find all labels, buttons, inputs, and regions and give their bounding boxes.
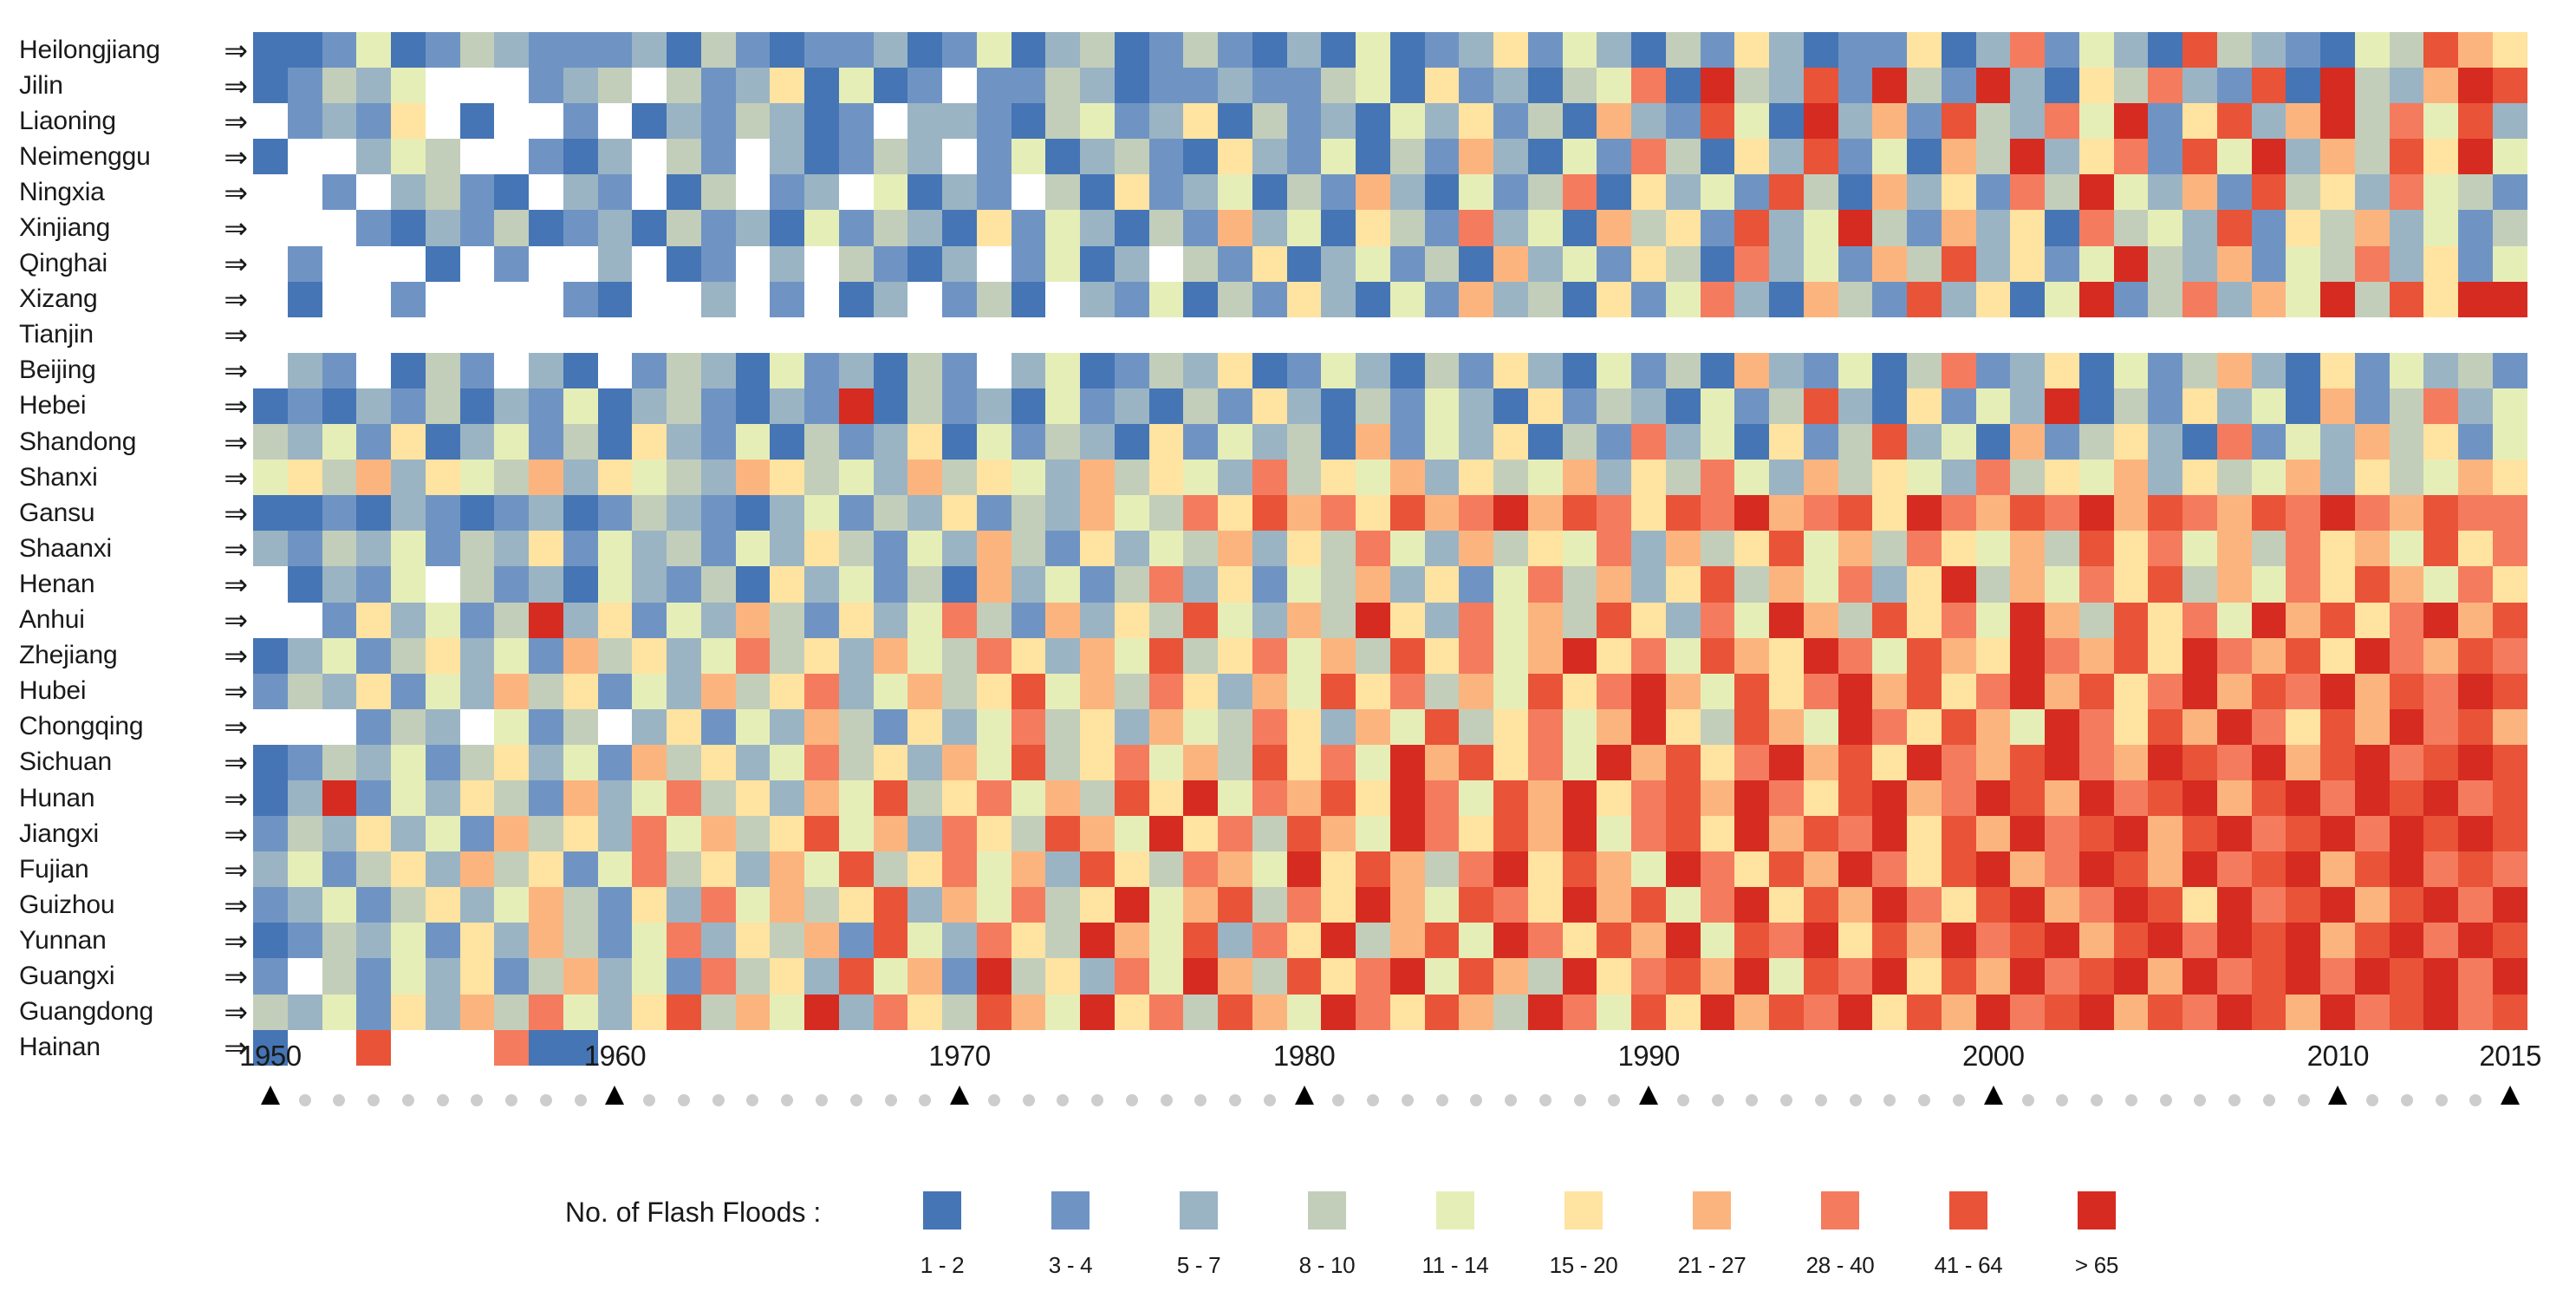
heatmap-cell xyxy=(1493,851,1528,887)
heatmap-cell xyxy=(322,709,357,745)
heatmap-cell xyxy=(1493,887,1528,923)
heatmap-cell xyxy=(2010,995,2045,1030)
heatmap-cell xyxy=(1287,531,1322,566)
heatmap-cell xyxy=(942,566,977,602)
heatmap-cell xyxy=(2148,923,2182,958)
heatmap-cell xyxy=(2182,282,2217,317)
heatmap-cell xyxy=(2320,317,2355,353)
heatmap-cell xyxy=(1769,531,1804,566)
heatmap-cell xyxy=(701,282,736,317)
x-axis-year-dot xyxy=(2469,1094,2482,1106)
heatmap-row xyxy=(253,353,2527,388)
heatmap-cell xyxy=(2458,566,2493,602)
heatmap-cell xyxy=(1459,638,1493,674)
province-label-column: Heilongjiang⇒Jilin⇒Liaoning⇒Neimenggu⇒Ni… xyxy=(0,32,253,1066)
heatmap-cell xyxy=(1942,210,1976,245)
heatmap-cell xyxy=(322,246,357,282)
heatmap-cell xyxy=(667,603,701,638)
heatmap-cell xyxy=(1252,958,1287,994)
heatmap-cell xyxy=(2114,388,2149,424)
heatmap-cell xyxy=(426,103,460,139)
heatmap-cell xyxy=(667,32,701,68)
heatmap-cell xyxy=(1631,923,1666,958)
heatmap-cell xyxy=(839,103,874,139)
heatmap-cell xyxy=(2286,674,2320,709)
heatmap-cell xyxy=(2217,816,2252,851)
heatmap-cell xyxy=(1493,958,1528,994)
heatmap-cell xyxy=(1666,851,1701,887)
heatmap-cell xyxy=(2252,674,2287,709)
province-name: Zhejiang xyxy=(19,642,117,669)
heatmap-cell xyxy=(2458,674,2493,709)
heatmap-cell xyxy=(391,780,426,816)
heatmap-cell xyxy=(2079,353,2114,388)
province-label-row: Ningxia⇒ xyxy=(0,174,253,210)
heatmap-cell xyxy=(1321,103,1356,139)
x-axis-year-dot xyxy=(1091,1094,1103,1106)
heatmap-cell xyxy=(253,103,288,139)
heatmap-cell xyxy=(874,674,908,709)
heatmap-cell xyxy=(322,32,357,68)
heatmap-cell xyxy=(632,851,667,887)
heatmap-cell xyxy=(770,424,804,460)
heatmap-cell xyxy=(1666,282,1701,317)
heatmap-cell xyxy=(667,816,701,851)
heatmap-cell xyxy=(563,816,598,851)
heatmap-cell xyxy=(942,851,977,887)
heatmap-cell xyxy=(2217,424,2252,460)
heatmap-cell xyxy=(1080,887,1115,923)
heatmap-cell xyxy=(701,174,736,210)
heatmap-cell xyxy=(1321,958,1356,994)
heatmap-cell xyxy=(2182,851,2217,887)
heatmap-cell xyxy=(2320,816,2355,851)
heatmap-cell xyxy=(2010,887,2045,923)
heatmap-cell xyxy=(1425,780,1460,816)
heatmap-cell xyxy=(1701,851,1735,887)
heatmap-cell xyxy=(2252,531,2287,566)
heatmap-cell xyxy=(2182,745,2217,780)
heatmap-cell xyxy=(1493,424,1528,460)
heatmap-cell xyxy=(1804,174,1838,210)
double-arrow-icon: ⇒ xyxy=(224,748,248,777)
heatmap-cell xyxy=(356,210,391,245)
heatmap-cell xyxy=(1666,995,1701,1030)
heatmap-row xyxy=(253,531,2527,566)
heatmap-cell xyxy=(1115,780,1149,816)
heatmap-cell xyxy=(667,887,701,923)
heatmap-cell xyxy=(2458,638,2493,674)
heatmap-cell xyxy=(1976,388,2011,424)
heatmap-cell xyxy=(1942,103,1976,139)
heatmap-cell xyxy=(667,674,701,709)
heatmap-cell xyxy=(2423,317,2458,353)
heatmap-cell xyxy=(563,745,598,780)
heatmap-cell xyxy=(1804,923,1838,958)
heatmap-cell xyxy=(1459,282,1493,317)
heatmap-cell xyxy=(460,674,495,709)
dot-icon xyxy=(1746,1094,1758,1106)
heatmap-cell xyxy=(2045,388,2079,424)
heatmap-cell xyxy=(942,32,977,68)
legend-item: 11 - 14 xyxy=(1386,1191,1525,1278)
heatmap-cell xyxy=(460,353,495,388)
heatmap-cell xyxy=(701,603,736,638)
heatmap-row xyxy=(253,745,2527,780)
heatmap-cell xyxy=(1183,566,1218,602)
heatmap-cell xyxy=(1252,282,1287,317)
heatmap-cell xyxy=(598,531,633,566)
province-name: Sichuan xyxy=(19,749,112,775)
heatmap-cell xyxy=(2182,780,2217,816)
heatmap-cell xyxy=(1666,495,1701,531)
heatmap-cell xyxy=(804,638,839,674)
x-axis-tick-marker xyxy=(1984,1086,2003,1105)
x-axis-year-dot xyxy=(1677,1094,1689,1106)
heatmap-cell xyxy=(2493,745,2527,780)
heatmap-cell xyxy=(288,32,322,68)
heatmap-cell xyxy=(1942,388,1976,424)
heatmap-cell xyxy=(1321,851,1356,887)
heatmap-cell xyxy=(1838,745,1873,780)
province-label-row: Shandong⇒ xyxy=(0,424,253,460)
heatmap-cell xyxy=(1425,174,1460,210)
heatmap-cell xyxy=(1356,317,1390,353)
heatmap-cell xyxy=(1115,103,1149,139)
heatmap-cell xyxy=(1734,317,1769,353)
heatmap-cell xyxy=(1872,495,1907,531)
heatmap-cell xyxy=(804,282,839,317)
heatmap-cell xyxy=(736,317,771,353)
heatmap-cell xyxy=(1459,674,1493,709)
heatmap-cell xyxy=(2217,638,2252,674)
heatmap-cell xyxy=(1804,603,1838,638)
heatmap-cell xyxy=(1769,851,1804,887)
heatmap-cell xyxy=(667,424,701,460)
province-label-row: Fujian⇒ xyxy=(0,851,253,887)
heatmap-cell xyxy=(2252,282,2287,317)
heatmap-cell xyxy=(1287,317,1322,353)
heatmap-cell xyxy=(2252,709,2287,745)
heatmap-cell xyxy=(563,995,598,1030)
heatmap-cell xyxy=(1493,139,1528,174)
heatmap-cell xyxy=(1115,139,1149,174)
heatmap-cell xyxy=(2010,139,2045,174)
heatmap-cell xyxy=(1734,745,1769,780)
heatmap-cell xyxy=(1907,745,1942,780)
heatmap-cell xyxy=(1080,958,1115,994)
heatmap-cell xyxy=(1528,32,1563,68)
heatmap-cell xyxy=(1493,353,1528,388)
heatmap-cell xyxy=(1356,923,1390,958)
heatmap-cell xyxy=(1528,424,1563,460)
heatmap-cell xyxy=(1045,745,1080,780)
heatmap-cell xyxy=(632,638,667,674)
heatmap-cell xyxy=(1425,246,1460,282)
heatmap-cell xyxy=(1563,816,1597,851)
heatmap-cell xyxy=(1080,424,1115,460)
heatmap-cell xyxy=(1390,32,1425,68)
x-axis-year-dot xyxy=(1194,1094,1207,1106)
heatmap-cell xyxy=(2355,674,2390,709)
heatmap-cell xyxy=(1769,816,1804,851)
heatmap-cell xyxy=(1597,353,1631,388)
heatmap-cell xyxy=(1356,566,1390,602)
heatmap-cell xyxy=(977,745,1012,780)
heatmap-cell xyxy=(598,68,633,103)
heatmap-cell xyxy=(1149,709,1184,745)
heatmap-cell xyxy=(2355,210,2390,245)
heatmap-cell xyxy=(1390,531,1425,566)
heatmap-cell xyxy=(1907,709,1942,745)
heatmap-cell xyxy=(2079,674,2114,709)
heatmap-cell xyxy=(391,174,426,210)
heatmap-cell xyxy=(1597,745,1631,780)
heatmap-cell xyxy=(1493,995,1528,1030)
heatmap-cell xyxy=(1115,923,1149,958)
heatmap-cell xyxy=(2423,995,2458,1030)
heatmap-cell xyxy=(391,139,426,174)
heatmap-cell xyxy=(839,32,874,68)
heatmap-cell xyxy=(1218,887,1252,923)
heatmap-cell xyxy=(1597,424,1631,460)
x-axis-tick-text: 1960 xyxy=(563,1040,667,1072)
heatmap-cell xyxy=(1012,638,1046,674)
heatmap-cell xyxy=(736,709,771,745)
dot-icon xyxy=(850,1094,862,1106)
x-axis-year-dot xyxy=(2056,1094,2068,1106)
heatmap-cell xyxy=(1321,603,1356,638)
heatmap-cell xyxy=(1563,995,1597,1030)
heatmap-cell xyxy=(701,851,736,887)
heatmap-cell xyxy=(1666,709,1701,745)
heatmap-cell xyxy=(356,282,391,317)
heatmap-cell xyxy=(1252,851,1287,887)
heatmap-cell xyxy=(907,353,942,388)
heatmap-cell xyxy=(874,566,908,602)
x-axis-tick-marker xyxy=(2501,1086,2520,1105)
heatmap-cell xyxy=(2493,709,2527,745)
heatmap-cell xyxy=(2286,566,2320,602)
heatmap-cell xyxy=(494,139,529,174)
heatmap-cell xyxy=(460,995,495,1030)
legend: No. of Flash Floods : 1 - 23 - 45 - 78 -… xyxy=(0,1191,2576,1287)
x-axis-year-dot xyxy=(781,1094,793,1106)
heatmap-cell xyxy=(2182,246,2217,282)
x-axis-year-dot xyxy=(1953,1094,1965,1106)
heatmap-cell xyxy=(1976,317,2011,353)
heatmap-cell xyxy=(1976,139,2011,174)
heatmap-cell xyxy=(942,317,977,353)
heatmap-cell xyxy=(632,424,667,460)
heatmap-cell xyxy=(426,388,460,424)
heatmap-cell xyxy=(632,210,667,245)
heatmap-cell xyxy=(529,887,563,923)
heatmap-cell xyxy=(2320,424,2355,460)
heatmap-cell xyxy=(1356,495,1390,531)
heatmap-cell xyxy=(2045,210,2079,245)
double-arrow-icon: ⇒ xyxy=(224,392,248,421)
heatmap-cell xyxy=(2045,603,2079,638)
heatmap-cell xyxy=(804,958,839,994)
heatmap-cell xyxy=(494,210,529,245)
heatmap-cell xyxy=(391,709,426,745)
heatmap-cell xyxy=(2010,317,2045,353)
heatmap-cell xyxy=(356,68,391,103)
heatmap-cell xyxy=(1666,780,1701,816)
heatmap-cell xyxy=(494,531,529,566)
heatmap-cell xyxy=(1252,995,1287,1030)
heatmap-cell xyxy=(2045,995,2079,1030)
heatmap-cell xyxy=(2320,566,2355,602)
heatmap-cell xyxy=(977,210,1012,245)
heatmap-cell xyxy=(2010,174,2045,210)
heatmap-cell xyxy=(1045,317,1080,353)
heatmap-cell xyxy=(2114,745,2149,780)
dot-icon xyxy=(1367,1094,1379,1106)
province-name: Yunnan xyxy=(19,928,107,954)
heatmap-cell xyxy=(770,174,804,210)
heatmap-cell xyxy=(253,851,288,887)
heatmap-cell xyxy=(2286,495,2320,531)
heatmap-cell xyxy=(1976,780,2011,816)
heatmap-cell xyxy=(2390,282,2424,317)
heatmap-cell xyxy=(1804,958,1838,994)
heatmap-cell xyxy=(356,566,391,602)
heatmap-cell xyxy=(563,958,598,994)
heatmap-cell xyxy=(1563,603,1597,638)
heatmap-cell xyxy=(907,531,942,566)
heatmap-cell xyxy=(1701,282,1735,317)
heatmap-cell xyxy=(1045,958,1080,994)
province-name: Gansu xyxy=(19,500,94,526)
heatmap-cell xyxy=(1459,603,1493,638)
heatmap-cell xyxy=(1218,68,1252,103)
heatmap-cell xyxy=(1631,246,1666,282)
heatmap-cell xyxy=(1734,103,1769,139)
x-axis-year-dot xyxy=(1023,1094,1035,1106)
dot-icon xyxy=(2091,1094,2103,1106)
heatmap-cell xyxy=(1907,674,1942,709)
heatmap-cell xyxy=(2423,388,2458,424)
heatmap-cell xyxy=(804,317,839,353)
heatmap-cell xyxy=(2114,495,2149,531)
heatmap-cell xyxy=(1183,460,1218,495)
heatmap-cell xyxy=(529,103,563,139)
heatmap-cell xyxy=(2423,174,2458,210)
heatmap-cell xyxy=(2252,460,2287,495)
heatmap-cell xyxy=(1838,103,1873,139)
heatmap-cell xyxy=(1252,317,1287,353)
x-axis-tick-label: 1990 xyxy=(1597,1040,1701,1072)
heatmap-cell xyxy=(1666,745,1701,780)
heatmap-cell xyxy=(1252,388,1287,424)
heatmap-cell xyxy=(356,139,391,174)
double-arrow-icon: ⇒ xyxy=(224,962,248,990)
heatmap-cell xyxy=(322,282,357,317)
heatmap-cell xyxy=(1459,32,1493,68)
heatmap-cell xyxy=(1115,995,1149,1030)
heatmap-cell xyxy=(2114,709,2149,745)
heatmap-cell xyxy=(2182,460,2217,495)
heatmap-cell xyxy=(1666,887,1701,923)
province-label-row: Tianjin⇒ xyxy=(0,317,253,353)
heatmap-cell xyxy=(1734,424,1769,460)
heatmap-cell xyxy=(977,674,1012,709)
dot-icon xyxy=(885,1094,897,1106)
heatmap-cell xyxy=(1838,674,1873,709)
heatmap-cell xyxy=(942,68,977,103)
heatmap-cell xyxy=(2390,68,2424,103)
heatmap-cell xyxy=(770,780,804,816)
heatmap-cell xyxy=(1425,638,1460,674)
heatmap-cell xyxy=(1907,353,1942,388)
heatmap-cell xyxy=(736,210,771,245)
legend-bin-label: 28 - 40 xyxy=(1771,1252,1909,1278)
heatmap-cell xyxy=(1252,32,1287,68)
heatmap-cell xyxy=(874,210,908,245)
heatmap-cell xyxy=(1872,816,1907,851)
heatmap-cell xyxy=(1804,674,1838,709)
heatmap-cell xyxy=(736,674,771,709)
heatmap-cell xyxy=(1459,139,1493,174)
heatmap-cell xyxy=(2114,460,2149,495)
heatmap-cell xyxy=(1734,923,1769,958)
heatmap-cell xyxy=(460,103,495,139)
heatmap-cell xyxy=(2010,495,2045,531)
heatmap-cell xyxy=(598,174,633,210)
heatmap-cell xyxy=(1425,353,1460,388)
heatmap-cell xyxy=(907,887,942,923)
heatmap-cell xyxy=(977,388,1012,424)
heatmap-cell xyxy=(1115,246,1149,282)
heatmap-cell xyxy=(632,139,667,174)
heatmap-cell xyxy=(1631,603,1666,638)
heatmap-cell xyxy=(2148,995,2182,1030)
province-name: Jiangxi xyxy=(19,821,99,847)
legend-bin-label: 8 - 10 xyxy=(1258,1252,1396,1278)
heatmap-cell xyxy=(1804,887,1838,923)
heatmap-cell xyxy=(1149,139,1184,174)
heatmap-row xyxy=(253,317,2527,353)
province-label-row: Liaoning⇒ xyxy=(0,103,253,139)
heatmap-cell xyxy=(598,424,633,460)
heatmap-cell xyxy=(563,531,598,566)
heatmap-cell xyxy=(1390,995,1425,1030)
heatmap-cell xyxy=(1493,32,1528,68)
heatmap-row xyxy=(253,851,2527,887)
dot-icon xyxy=(505,1094,517,1106)
heatmap-cell xyxy=(2355,68,2390,103)
heatmap-cell xyxy=(1838,495,1873,531)
heatmap-row xyxy=(253,638,2527,674)
heatmap-cell xyxy=(977,603,1012,638)
heatmap-cell xyxy=(1631,388,1666,424)
heatmap-cell xyxy=(874,709,908,745)
heatmap-cell xyxy=(667,353,701,388)
heatmap-cell xyxy=(1563,923,1597,958)
heatmap-cell xyxy=(1493,68,1528,103)
heatmap-cell xyxy=(2148,460,2182,495)
heatmap-cell xyxy=(356,958,391,994)
heatmap-cell xyxy=(1942,460,1976,495)
x-axis: 19501960197019801990200020102015 xyxy=(253,1040,2527,1145)
heatmap-cell xyxy=(1356,282,1390,317)
heatmap-cell xyxy=(1976,745,2011,780)
heatmap-cell xyxy=(460,174,495,210)
heatmap-cell xyxy=(2148,32,2182,68)
heatmap-cell xyxy=(1115,210,1149,245)
